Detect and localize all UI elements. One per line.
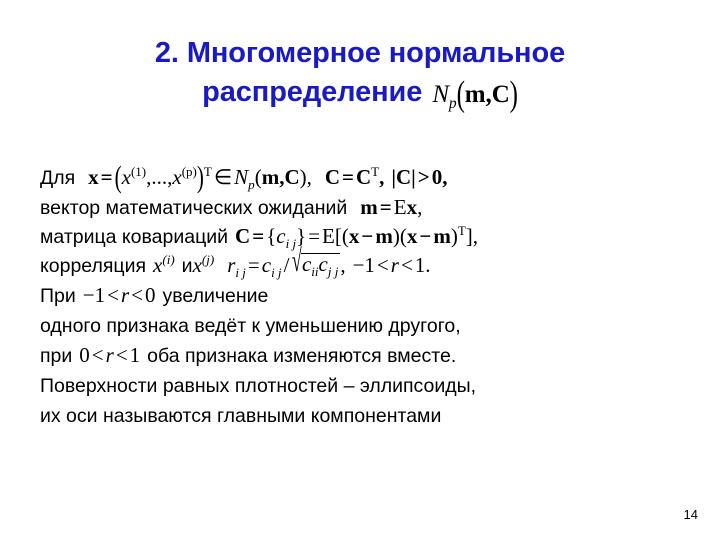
line8-text: Поверхности равных плотностей – эллипсои… — [40, 375, 476, 397]
line2-comma: , — [417, 195, 422, 219]
line1-ellipsis: ,..., — [146, 165, 172, 189]
line3-paren1-open: ( — [342, 224, 349, 248]
line1-C-transpose-sup: T — [371, 164, 379, 179]
line5-tail: увеличение — [162, 285, 268, 307]
line4-divide: / — [282, 253, 292, 277]
body-line-correlation: корреляцияx(i)иx(j)ri j=ci j/√ciicj j,−1… — [40, 252, 720, 281]
line1-C-symmetric: C — [325, 165, 340, 189]
page-title: 2. Многомерное нормальное распределениеN… — [20, 34, 700, 114]
line4-x-i-sup: (i) — [162, 252, 174, 267]
line2-expectation: E — [394, 195, 407, 219]
line7-zero: 0 — [79, 343, 90, 367]
line1-x-bold: x — [88, 165, 99, 189]
line4-c-sub: i j — [271, 265, 282, 280]
line4-c-ii: c — [302, 252, 311, 276]
line3-tail: ], — [466, 224, 478, 248]
line1-greater-than: > — [416, 165, 432, 189]
line4-lt-1: < — [375, 253, 391, 277]
body-line-positive-correlation: при0<r<1оба признака изменяются вместе. — [40, 341, 720, 371]
line1-zero: 0, — [432, 165, 448, 189]
line3-sup-T: T — [458, 223, 466, 238]
title-math-N: N — [432, 81, 449, 108]
line4-and: и — [182, 255, 193, 277]
line1-N-paren-open: ( — [255, 165, 262, 189]
line1-sup-1: (1) — [131, 164, 146, 179]
line5-lead: При — [40, 285, 76, 307]
title-math-paren-close: ) — [510, 70, 518, 118]
line4-sqrt-body: ciicj j — [301, 253, 340, 278]
body-line-mean-vector: вектор математических ожиданийm=Ex, — [40, 193, 720, 223]
body-line-equal-density-surfaces: Поверхности равных плотностей – эллипсои… — [40, 371, 720, 401]
line1-xp: x — [172, 165, 181, 189]
line1-det-C: C — [396, 165, 411, 189]
line3-paren2-close: ) — [451, 224, 458, 248]
line4-r-sub: i j — [235, 265, 246, 280]
body-line-negative-correlation: При−1<r<0увеличение — [40, 281, 720, 311]
line4-equals: = — [246, 253, 262, 277]
line6-text: одного признака ведёт к уменьшению друго… — [40, 315, 461, 337]
line4-text: корреляция — [40, 255, 146, 277]
line1-equals: = — [99, 165, 115, 189]
line4-c-jj-sub: j j — [328, 264, 339, 279]
line3-x-2: x — [407, 224, 418, 248]
line7-lt-1: < — [90, 343, 106, 367]
line2-equals: = — [378, 195, 394, 219]
line2-m: m — [360, 195, 378, 219]
body-line-covariance-matrix: матрица ковариацийC={ci j}=E[(x−m)(x−m)T… — [40, 223, 720, 252]
line2-x: x — [407, 195, 418, 219]
line4-math: x(i) — [153, 254, 175, 277]
line3-math: C={ci j}=E[(x−m)(x−m)T], — [235, 225, 478, 248]
line5-lt-2: < — [129, 283, 145, 307]
line1-lead: Для — [40, 167, 75, 189]
title-math-m: m — [465, 81, 486, 108]
body-line-definition: Дляx=(x(1),...,x(p))T∈Np(m,C),C=CT,|C|>0… — [40, 163, 720, 193]
line1-paren-open: ( — [115, 162, 122, 192]
line1-C-equals: = — [340, 165, 356, 189]
body-line-principal-components: их оси называются главными компонентами — [40, 401, 720, 431]
line7-math: 0<r<1 — [79, 344, 140, 367]
line4-range-max: 1. — [415, 253, 431, 277]
line4-comma: , — [340, 253, 345, 277]
line1-m: m — [262, 165, 280, 189]
line3-x-1: x — [349, 224, 360, 248]
line1-x1: x — [122, 165, 131, 189]
title-line-2: распределениеNp(m,C) — [20, 73, 700, 115]
line4-math-2: x(j) — [193, 254, 215, 277]
line4-c: c — [262, 253, 271, 277]
line3-equals-2: = — [306, 224, 322, 248]
line7-one: 1 — [130, 343, 141, 367]
line4-range-r: r — [391, 253, 399, 277]
line3-paren1-close: ) — [393, 224, 400, 248]
line7-lead: при — [40, 345, 72, 367]
line2-math: m=Ex, — [360, 196, 422, 219]
line4-lt-2: < — [399, 253, 415, 277]
body-line-decrease-explanation: одного признака ведёт к уменьшению друго… — [40, 311, 720, 341]
line1-math: x=(x(1),...,x(p))T∈Np(m,C),C=CT,|C|>0, — [88, 166, 447, 189]
line3-m-2: m — [433, 224, 451, 248]
line4-formula: ri j=ci j/√ciicj j,−1<r<1. — [227, 254, 430, 277]
line1-C-comma: , — [379, 165, 384, 189]
line3-minus-2: − — [417, 224, 433, 248]
title-math-paren-open: ( — [457, 70, 465, 118]
line3-text: матрица ковариаций — [40, 226, 228, 248]
line4-x-i: x — [153, 253, 162, 277]
page-number: 14 — [684, 507, 698, 522]
line5-zero: 0 — [145, 283, 156, 307]
line4-x-j: x — [193, 253, 202, 277]
line5-minus-one: −1 — [83, 283, 105, 307]
line3-C: C — [235, 224, 250, 248]
line3-paren2-open: ( — [400, 224, 407, 248]
line1-paren-close: ) — [197, 162, 204, 192]
line5-r: r — [121, 283, 129, 307]
line4-range-min: −1 — [353, 253, 375, 277]
title-line-1: 2. Многомерное нормальное — [20, 34, 700, 73]
line1-element-of: ∈ — [212, 165, 234, 189]
line1-N-paren-close: ), — [300, 165, 312, 189]
line3-minus-1: − — [359, 224, 375, 248]
line2-text: вектор математических ожиданий — [40, 197, 347, 219]
line1-C-transpose: C — [356, 165, 371, 189]
line3-expectation: E[ — [322, 224, 342, 248]
line4-c-ii-sub: ii — [311, 264, 318, 279]
line1-N: N — [234, 165, 248, 189]
slide-body: Дляx=(x(1),...,x(p))T∈Np(m,C),C=CT,|C|>0… — [40, 163, 720, 431]
line4-x-j-sup: (j) — [202, 252, 214, 267]
line4-c-jj: c — [319, 252, 328, 276]
line5-lt-1: < — [105, 283, 121, 307]
title-line-2-text: распределение — [202, 76, 422, 108]
line3-m-1: m — [375, 224, 393, 248]
line3-c: c — [276, 224, 285, 248]
title-math-C: C — [492, 81, 510, 108]
line7-lt-2: < — [114, 343, 130, 367]
line7-r: r — [106, 343, 114, 367]
line1-C: C — [284, 165, 299, 189]
line3-brace-open: { — [266, 224, 276, 248]
title-math-expression: Np(m,C) — [422, 80, 518, 108]
line1-sup-T: T — [204, 164, 212, 179]
title-math-p: p — [449, 95, 457, 112]
line9-text: их оси называются главными компонентами — [40, 405, 441, 427]
line1-sup-p: (p) — [182, 164, 197, 179]
line3-equals-1: = — [250, 224, 266, 248]
line5-math: −1<r<0 — [83, 284, 156, 307]
slide-canvas: 2. Многомерное нормальное распределениеN… — [0, 0, 720, 540]
line7-tail: оба признака изменяются вместе. — [147, 345, 456, 367]
